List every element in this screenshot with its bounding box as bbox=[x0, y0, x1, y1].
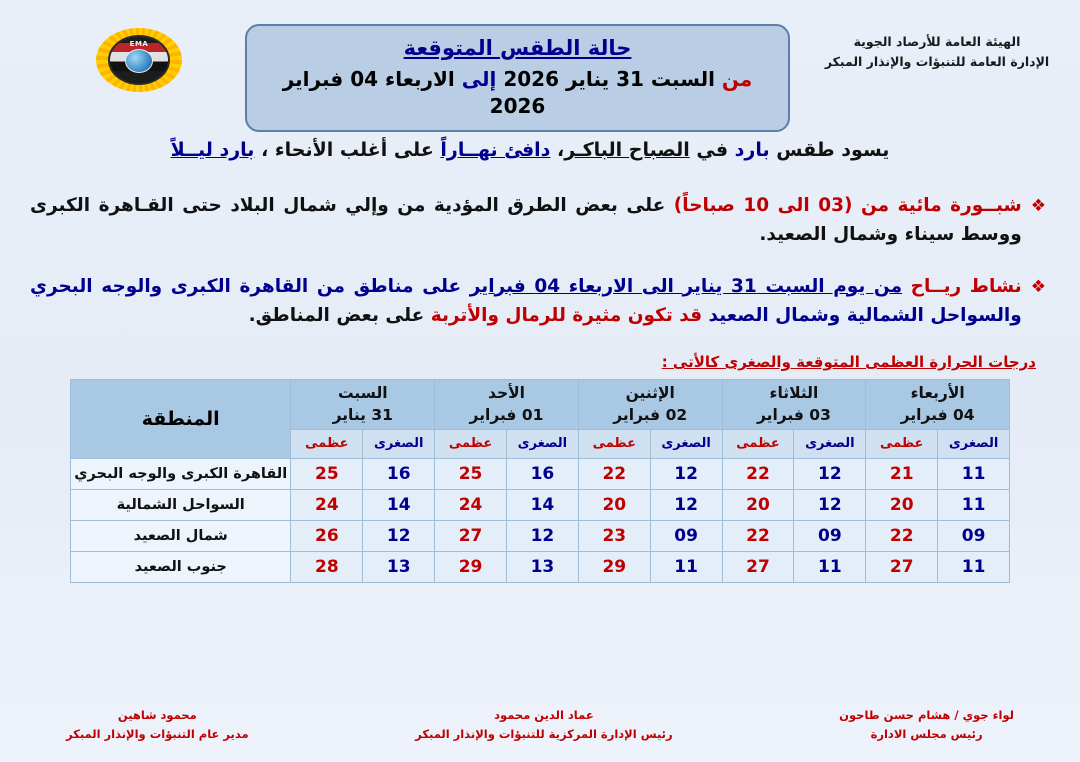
cell-region: السواحل الشمالية bbox=[71, 489, 291, 520]
signature-role: مدير عام التنبؤات والإنذار المبكر bbox=[66, 725, 249, 744]
title-banner: حالة الطقس المتوقعة من السبت 31 يناير 20… bbox=[245, 24, 790, 132]
date-range-to: إلى bbox=[462, 67, 497, 91]
signature-chairman: لواء جوي / هشام حسن طاحون رئيس مجلس الاد… bbox=[839, 706, 1014, 744]
day-date: 03 فبراير bbox=[723, 404, 866, 426]
day-name: الثلاثاء bbox=[723, 382, 866, 404]
page-title: حالة الطقس المتوقعة bbox=[257, 34, 778, 62]
warning-item-wind: ❖ نشاط ريــاح من يوم السبت 31 يناير الى … bbox=[30, 272, 1046, 331]
summary-part-1: يسود طقس bbox=[776, 139, 889, 161]
cell-min: 11 bbox=[938, 489, 1010, 520]
subheader-min-saturday: الصغرى bbox=[363, 429, 435, 458]
subheader-max-monday: عظمى bbox=[578, 429, 650, 458]
cell-max: 27 bbox=[866, 551, 938, 582]
cell-max: 22 bbox=[866, 520, 938, 551]
summary-part-3: في bbox=[696, 139, 728, 161]
bullet-diamond-icon: ❖ bbox=[1031, 272, 1046, 300]
cell-min: 09 bbox=[794, 520, 866, 551]
cell-max: 22 bbox=[578, 458, 650, 489]
date-range-start: السبت 31 يناير 2026 bbox=[503, 67, 715, 91]
temperature-table-caption: درجات الحرارة العظمى المتوقعة والصغرى كا… bbox=[0, 353, 1036, 371]
cell-max: 21 bbox=[866, 458, 938, 489]
cell-min: 14 bbox=[363, 489, 435, 520]
signature-general-manager: محمود شاهين مدير عام التنبؤات والإنذار ا… bbox=[66, 706, 249, 744]
signature-footer: لواء جوي / هشام حسن طاحون رئيس مجلس الاد… bbox=[0, 706, 1080, 744]
day-date: 31 يناير bbox=[291, 404, 434, 426]
cell-max: 25 bbox=[435, 458, 507, 489]
cell-min: 12 bbox=[650, 458, 722, 489]
cell-max: 29 bbox=[435, 551, 507, 582]
date-range: من السبت 31 يناير 2026 إلى الاربعاء 04 ف… bbox=[257, 66, 778, 120]
warning-fog-text: شبــورة مائية من (03 الى 10 صباحاً) على … bbox=[30, 191, 1022, 250]
weather-summary: يسود طقس بارد في الصباح الباكـر، دافئ نه… bbox=[40, 136, 1020, 165]
cell-max: 24 bbox=[291, 489, 363, 520]
bullet-diamond-icon: ❖ bbox=[1031, 191, 1046, 219]
wind-areas-tail: على بعض المناطق. bbox=[249, 305, 425, 326]
subheader-max-saturday: عظمى bbox=[291, 429, 363, 458]
cell-region: شمال الصعيد bbox=[71, 520, 291, 551]
cell-min: 12 bbox=[794, 458, 866, 489]
ema-logo-icon: EMA bbox=[93, 24, 185, 96]
subheader-max-wednesday: عظمى bbox=[866, 429, 938, 458]
cell-max: 23 bbox=[578, 520, 650, 551]
org-line-department: الإدارة العامة للتنبؤات والإنذار المبكر bbox=[812, 52, 1062, 72]
cell-min: 12 bbox=[650, 489, 722, 520]
organization-block: الهيئة العامة للأرصاد الجوية الإدارة الع… bbox=[812, 32, 1062, 72]
cell-max: 20 bbox=[866, 489, 938, 520]
summary-cold-night: بارد ليــلاً bbox=[171, 139, 255, 161]
table-row: 09 22 09 22 09 23 12 27 12 26 شمال الصعي… bbox=[71, 520, 1010, 551]
cell-min: 16 bbox=[506, 458, 578, 489]
cell-min: 11 bbox=[650, 551, 722, 582]
temperature-table: الأربعاء 04 فبراير الثلاثاء 03 فبراير ال… bbox=[70, 379, 1010, 583]
wind-dust-note: قد تكون مثيرة للرمال والأتربة bbox=[431, 305, 702, 326]
cell-min: 11 bbox=[794, 551, 866, 582]
day-header-sunday: الأحد 01 فبراير bbox=[435, 379, 579, 429]
subheader-min-wednesday: الصغرى bbox=[938, 429, 1010, 458]
cell-max: 28 bbox=[291, 551, 363, 582]
forecast-page: EMA حالة الطقس المتوقعة من السبت 31 يناي… bbox=[0, 0, 1080, 762]
signature-name: عماد الدين محمود bbox=[415, 706, 672, 725]
subheader-max-sunday: عظمى bbox=[435, 429, 507, 458]
cell-max: 27 bbox=[435, 520, 507, 551]
day-name: السبت bbox=[291, 382, 434, 404]
signature-role: رئيس مجلس الادارة bbox=[839, 725, 1014, 744]
fog-time-range: (03 الى 10 صباحاً) bbox=[674, 195, 853, 216]
cell-max: 26 bbox=[291, 520, 363, 551]
day-header-monday: الإثنين 02 فبراير bbox=[578, 379, 722, 429]
cell-min: 09 bbox=[650, 520, 722, 551]
cell-min: 11 bbox=[938, 551, 1010, 582]
cell-min: 09 bbox=[938, 520, 1010, 551]
day-header-wednesday: الأربعاء 04 فبراير bbox=[866, 379, 1010, 429]
logo-monogram: EMA bbox=[130, 40, 149, 48]
temperature-table-wrap: الأربعاء 04 فبراير الثلاثاء 03 فبراير ال… bbox=[70, 379, 1010, 583]
table-row: 11 21 12 22 12 22 16 25 16 25 القاهرة ال… bbox=[71, 458, 1010, 489]
day-name: الأحد bbox=[435, 382, 578, 404]
logo-emblem: EMA bbox=[108, 35, 170, 85]
globe-icon bbox=[125, 49, 153, 73]
warning-wind-text: نشاط ريــاح من يوم السبت 31 يناير الى ال… bbox=[30, 272, 1022, 331]
summary-part-7: على أغلب الأنحاء ، bbox=[261, 139, 434, 161]
day-name: الأربعاء bbox=[866, 382, 1009, 404]
signature-role: رئيس الإدارة المركزية للتنبؤات والإنذار … bbox=[415, 725, 672, 744]
day-header-tuesday: الثلاثاء 03 فبراير bbox=[722, 379, 866, 429]
table-row: 11 27 11 27 11 29 13 29 13 28 جنوب الصعي… bbox=[71, 551, 1010, 582]
signature-central-director: عماد الدين محمود رئيس الإدارة المركزية ل… bbox=[415, 706, 672, 744]
temperature-table-body: 11 21 12 22 12 22 16 25 16 25 القاهرة ال… bbox=[71, 458, 1010, 582]
day-header-saturday: السبت 31 يناير bbox=[291, 379, 435, 429]
signature-name: محمود شاهين bbox=[66, 706, 249, 725]
day-name: الإثنين bbox=[579, 382, 722, 404]
cell-min: 12 bbox=[794, 489, 866, 520]
cell-min: 12 bbox=[506, 520, 578, 551]
wind-label: نشاط ريــاح bbox=[911, 276, 1022, 297]
org-line-authority: الهيئة العامة للأرصاد الجوية bbox=[812, 32, 1062, 52]
summary-warm-daytime: دافئ نهــاراً bbox=[440, 139, 550, 161]
summary-early-morning: الصباح الباكـر bbox=[564, 139, 689, 161]
subheader-min-sunday: الصغرى bbox=[506, 429, 578, 458]
fog-label: شبــورة مائية من bbox=[861, 195, 1022, 216]
cell-min: 11 bbox=[938, 458, 1010, 489]
cell-min: 12 bbox=[363, 520, 435, 551]
table-row: 11 20 12 20 12 20 14 24 14 24 السواحل ال… bbox=[71, 489, 1010, 520]
warnings-list: ❖ شبــورة مائية من (03 الى 10 صباحاً) عل… bbox=[30, 191, 1046, 331]
cell-max: 27 bbox=[722, 551, 794, 582]
day-date: 01 فبراير bbox=[435, 404, 578, 426]
cell-region: القاهرة الكبرى والوجه البحري bbox=[71, 458, 291, 489]
cell-min: 16 bbox=[363, 458, 435, 489]
subheader-max-tuesday: عظمى bbox=[722, 429, 794, 458]
warning-item-fog: ❖ شبــورة مائية من (03 الى 10 صباحاً) عل… bbox=[30, 191, 1046, 250]
region-column-header: المنطقة bbox=[71, 379, 291, 458]
cell-max: 20 bbox=[578, 489, 650, 520]
table-header-days: الأربعاء 04 فبراير الثلاثاء 03 فبراير ال… bbox=[71, 379, 1010, 429]
cell-max: 22 bbox=[722, 520, 794, 551]
subheader-min-tuesday: الصغرى bbox=[794, 429, 866, 458]
cell-min: 13 bbox=[506, 551, 578, 582]
summary-cold-morning: بارد bbox=[735, 139, 770, 161]
page-header: EMA حالة الطقس المتوقعة من السبت 31 يناي… bbox=[0, 0, 1080, 110]
day-date: 02 فبراير bbox=[579, 404, 722, 426]
signature-name: لواء جوي / هشام حسن طاحون bbox=[839, 706, 1014, 725]
day-date: 04 فبراير bbox=[866, 404, 1009, 426]
cell-max: 29 bbox=[578, 551, 650, 582]
cell-min: 14 bbox=[506, 489, 578, 520]
cell-max: 25 bbox=[291, 458, 363, 489]
cell-min: 13 bbox=[363, 551, 435, 582]
wind-period: من يوم السبت 31 يناير الى الاربعاء 04 فب… bbox=[470, 276, 902, 297]
cell-max: 20 bbox=[722, 489, 794, 520]
caption-text: درجات الحرارة العظمى المتوقعة والصغرى كا… bbox=[662, 353, 1036, 371]
date-range-prefix: من bbox=[722, 67, 752, 91]
cell-max: 22 bbox=[722, 458, 794, 489]
subheader-min-monday: الصغرى bbox=[650, 429, 722, 458]
cell-region: جنوب الصعيد bbox=[71, 551, 291, 582]
cell-max: 24 bbox=[435, 489, 507, 520]
